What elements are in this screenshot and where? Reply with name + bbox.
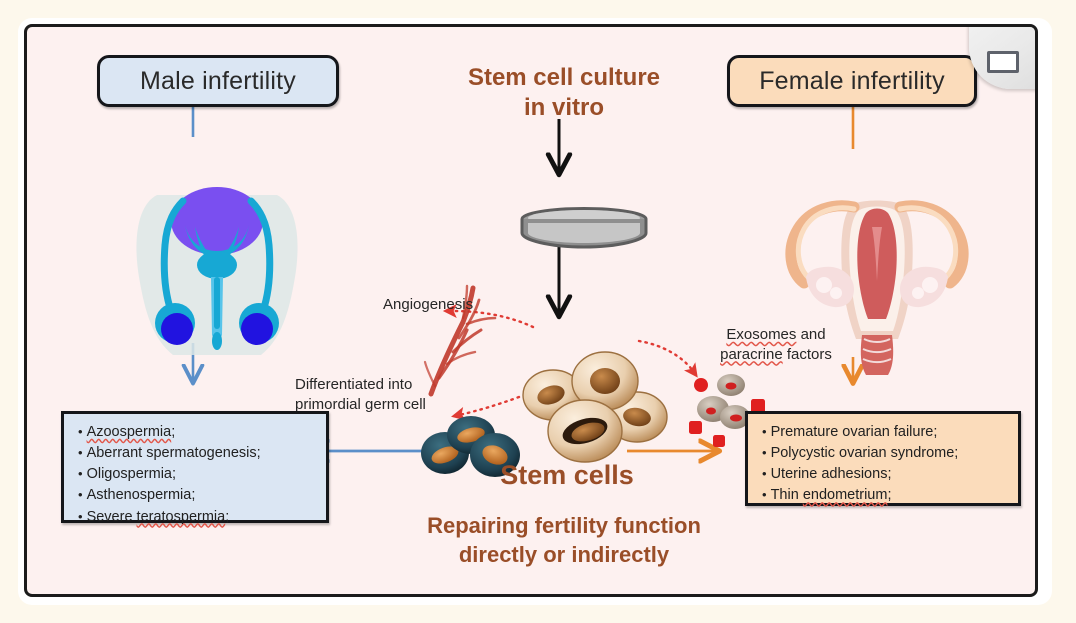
condition-text: Asthenospermia; <box>87 487 196 503</box>
angiogenesis-label: Angiogenesis <box>383 295 473 315</box>
male-infertility-label: Male infertility <box>140 67 296 96</box>
female-conditions-box[interactable]: Premature ovarian failure;Polycystic ova… <box>745 411 1021 506</box>
bottom-caption-line2: directly or indirectly <box>389 541 739 570</box>
list-item: Severe teratospermia; <box>78 507 316 528</box>
condition-text: ; <box>171 424 175 440</box>
exosome-word-factors: factors <box>783 346 832 363</box>
bottom-caption-line1: Repairing fertility function <box>389 512 739 541</box>
list-item: Asthenospermia; <box>78 485 316 506</box>
list-item: Aberrant spermatogenesis; <box>78 443 316 464</box>
stem-cell-cluster-illustration <box>519 347 671 471</box>
list-item: Premature ovarian failure; <box>762 422 1008 443</box>
figure-frame: Male infertility Female infertility Stem… <box>24 24 1038 597</box>
exosome-label-line2: paracrine factors <box>708 345 844 365</box>
exosome-word-paracrine: paracrine <box>720 346 783 363</box>
window-restore-icon[interactable] <box>987 51 1019 73</box>
list-item: Azoospermia; <box>78 422 316 443</box>
male-reproductive-system-illustration <box>123 159 311 367</box>
male-conditions-list: Azoospermia;Aberrant spermatogenesis;Oli… <box>78 422 316 528</box>
petri-dish-illustration <box>520 207 648 255</box>
condition-text: ; <box>887 487 891 503</box>
exosome-label-line1: Exosomes and <box>708 325 844 345</box>
list-item: Uterine adhesions; <box>762 464 1008 485</box>
condition-text: Severe <box>87 509 137 525</box>
list-item: Oligospermia; <box>78 464 316 485</box>
female-infertility-header-box[interactable]: Female infertility <box>727 55 977 107</box>
center-title: Stem cell culture in vitro <box>419 63 709 123</box>
figure-root: Male infertility Female infertility Stem… <box>0 0 1076 623</box>
exosome-word-exosomes: Exosomes <box>726 326 796 343</box>
female-conditions-list: Premature ovarian failure;Polycystic ova… <box>762 422 1008 507</box>
condition-text: Thin <box>771 487 803 503</box>
condition-text: Uterine adhesions; <box>771 466 892 482</box>
condition-text: Premature ovarian failure; <box>771 424 938 440</box>
bottom-caption: Repairing fertility function directly or… <box>389 512 739 569</box>
male-conditions-box[interactable]: Azoospermia;Aberrant spermatogenesis;Oli… <box>61 411 329 523</box>
spellcheck-word: Azoospermia <box>87 424 172 440</box>
condition-text: Aberrant spermatogenesis; <box>87 445 261 461</box>
exosome-word-and: and <box>796 326 825 343</box>
condition-text: Oligospermia; <box>87 466 176 482</box>
list-item: Thin endometrium; <box>762 485 1008 506</box>
stem-cells-label: Stem cells <box>482 460 652 491</box>
condition-text: Polycystic ovarian syndrome; <box>771 445 959 461</box>
center-title-line1: Stem cell culture <box>419 63 709 93</box>
spellcheck-word: teratospermia <box>137 509 226 525</box>
condition-text: ; <box>225 509 229 525</box>
exosome-label: Exosomes and paracrine factors <box>708 325 844 364</box>
corner-overlay-badge[interactable] <box>963 25 1035 97</box>
list-item: Polycystic ovarian syndrome; <box>762 443 1008 464</box>
male-infertility-header-box[interactable]: Male infertility <box>97 55 339 107</box>
germ-cell-label-line1: Differentiated into <box>295 375 465 395</box>
center-title-line2: in vitro <box>419 93 709 123</box>
germ-cell-label: Differentiated into primordial germ cell <box>295 375 465 414</box>
spellcheck-word: endometrium <box>803 487 888 503</box>
female-infertility-label: Female infertility <box>759 67 945 96</box>
